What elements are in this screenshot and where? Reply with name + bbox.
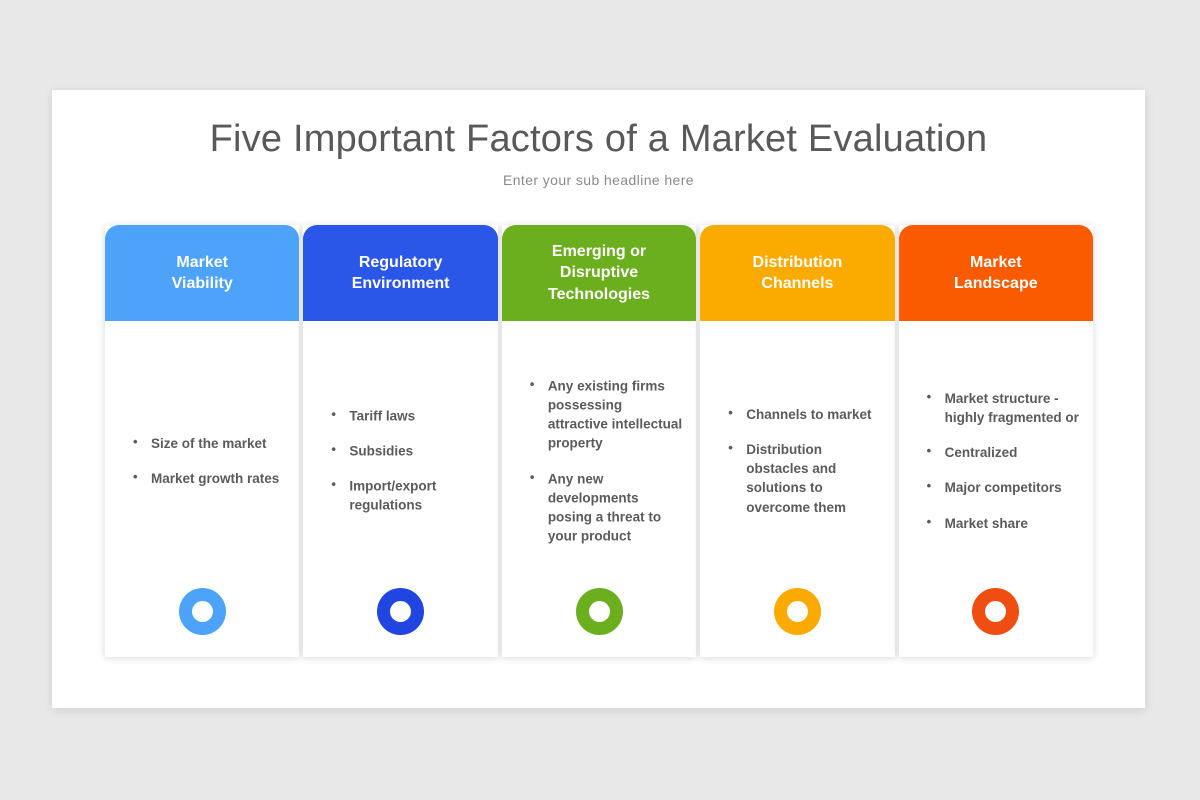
ring-icon: [179, 588, 226, 635]
ring-icon: [377, 588, 424, 635]
ring-icon: [576, 588, 623, 635]
column-header[interactable]: Emerging or Disruptive Technologies: [502, 225, 696, 321]
column-header-label: Market Viability: [172, 252, 233, 295]
bullet-list: Market structure - highly fragmented orC…: [899, 389, 1093, 533]
bullet-list: Size of the marketMarket growth rates: [105, 434, 299, 488]
slide-canvas: Five Important Factors of a Market Evalu…: [52, 90, 1145, 708]
list-item: Any existing firms possessing attractive…: [530, 376, 682, 453]
list-item: Tariff laws: [331, 407, 483, 426]
list-item: Channels to market: [728, 405, 880, 424]
list-item: Centralized: [927, 443, 1079, 462]
list-item: Any new developments posing a threat to …: [530, 469, 682, 546]
column-header[interactable]: Regulatory Environment: [303, 225, 497, 321]
factor-column[interactable]: Distribution ChannelsChannels to marketD…: [700, 225, 894, 657]
column-header[interactable]: Market Viability: [105, 225, 299, 321]
factor-columns: Market ViabilitySize of the marketMarket…: [105, 225, 1093, 657]
ring-icon-wrap: [700, 588, 894, 635]
column-header-label: Distribution Channels: [753, 252, 843, 295]
list-item: Major competitors: [927, 479, 1079, 498]
list-item: Market structure - highly fragmented or: [927, 389, 1079, 427]
column-header[interactable]: Distribution Channels: [700, 225, 894, 321]
factor-column[interactable]: Emerging or Disruptive TechnologiesAny e…: [502, 225, 696, 657]
bullet-list: Any existing firms possessing attractive…: [502, 376, 696, 545]
ring-icon-wrap: [105, 588, 299, 635]
column-body: Any existing firms possessing attractive…: [502, 321, 696, 657]
column-header-label: Market Landscape: [954, 252, 1038, 295]
bullet-list: Channels to marketDistribution obstacles…: [700, 405, 894, 517]
factor-column[interactable]: Regulatory EnvironmentTariff lawsSubsidi…: [303, 225, 497, 657]
column-header[interactable]: Market Landscape: [899, 225, 1093, 321]
ring-icon-wrap: [303, 588, 497, 635]
ring-icon-wrap: [502, 588, 696, 635]
ring-icon-wrap: [899, 588, 1093, 635]
page-subtitle: Enter your sub headline here: [52, 172, 1145, 188]
list-item: Subsidies: [331, 442, 483, 461]
list-item: Import/export regulations: [331, 477, 483, 515]
list-item: Market growth rates: [133, 469, 285, 488]
bullet-list: Tariff lawsSubsidiesImport/export regula…: [303, 407, 497, 516]
column-header-label: Emerging or Disruptive Technologies: [548, 241, 650, 305]
column-body: Tariff lawsSubsidiesImport/export regula…: [303, 321, 497, 657]
ring-icon: [774, 588, 821, 635]
factor-column[interactable]: Market LandscapeMarket structure - highl…: [899, 225, 1093, 657]
list-item: Distribution obstacles and solutions to …: [728, 440, 880, 517]
column-header-label: Regulatory Environment: [352, 252, 450, 295]
page-title: Five Important Factors of a Market Evalu…: [52, 118, 1145, 161]
factor-column[interactable]: Market ViabilitySize of the marketMarket…: [105, 225, 299, 657]
column-body: Market structure - highly fragmented orC…: [899, 321, 1093, 657]
column-body: Channels to marketDistribution obstacles…: [700, 321, 894, 657]
column-body: Size of the marketMarket growth rates: [105, 321, 299, 657]
list-item: Market share: [927, 514, 1079, 533]
ring-icon: [972, 588, 1019, 635]
list-item: Size of the market: [133, 434, 285, 453]
